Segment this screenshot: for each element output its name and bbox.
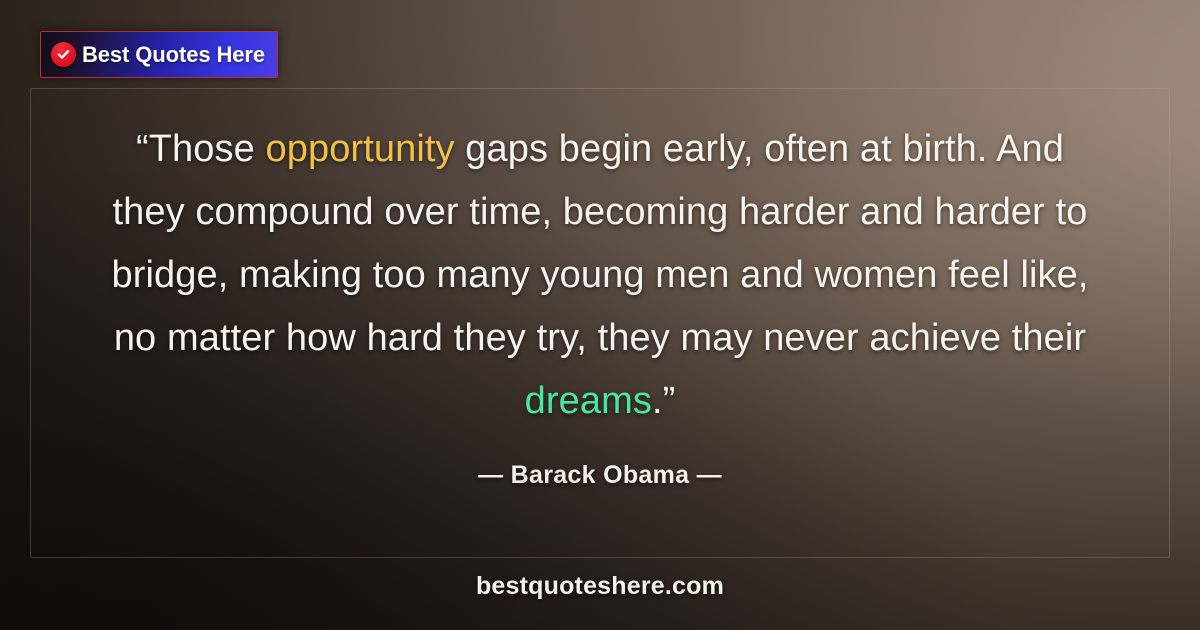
quote-line: bridge, making too many young men and wo…	[66, 244, 1134, 307]
footer-site-url[interactable]: bestquoteshere.com	[0, 572, 1200, 601]
quote-segment: gaps begin early, often at birth. And	[455, 128, 1064, 170]
quote-highlight-dreams: dreams	[525, 380, 652, 422]
brand-badge-label: Best Quotes Here	[82, 42, 265, 68]
quote-segment: no matter how hard they try, they may ne…	[114, 317, 1086, 359]
quote-line: no matter how hard they try, they may ne…	[66, 307, 1134, 370]
quote-text: “Those opportunity gaps begin early, oft…	[66, 118, 1134, 433]
quote-segment: bridge, making too many young men and wo…	[111, 254, 1088, 296]
quote-line: “Those opportunity gaps begin early, oft…	[66, 118, 1134, 181]
quote-attribution: — Barack Obama —	[66, 461, 1134, 490]
quote-line: they compound over time, becoming harder…	[66, 181, 1134, 244]
quote-card: Best Quotes Here “Those opportunity gaps…	[0, 0, 1200, 630]
brand-badge[interactable]: Best Quotes Here	[40, 31, 278, 78]
quote-highlight-opportunity: opportunity	[266, 128, 455, 170]
quote-segment: .”	[652, 380, 675, 422]
verified-check-icon	[51, 42, 76, 67]
quote-segment: they compound over time, becoming harder…	[113, 191, 1088, 233]
quote-segment: “Those	[136, 128, 266, 170]
quote-line: dreams.”	[66, 370, 1134, 433]
quote-block: “Those opportunity gaps begin early, oft…	[66, 118, 1134, 490]
